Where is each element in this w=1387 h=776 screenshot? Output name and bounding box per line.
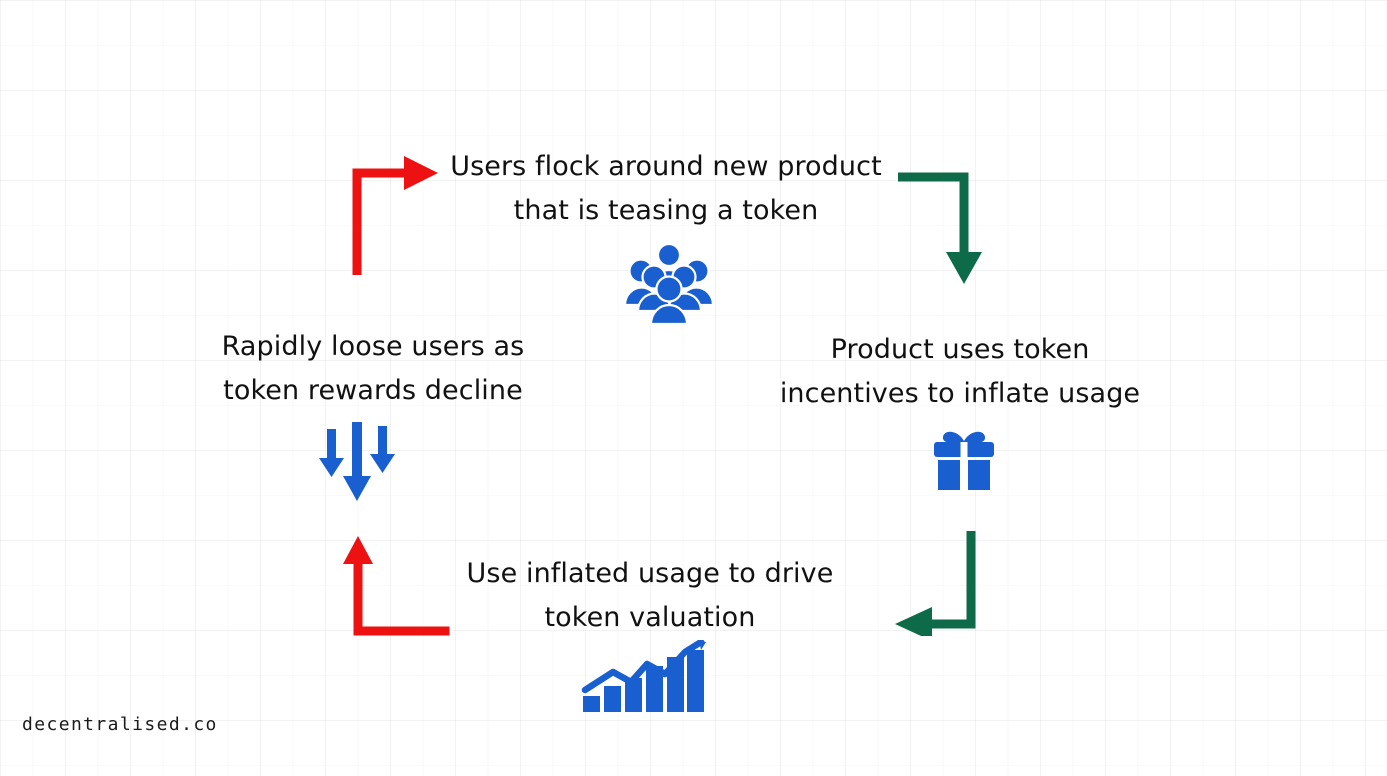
crowd-of-users-icon <box>623 243 715 329</box>
node-label-bottom-line-1: Use inflated usage to drive <box>455 552 845 596</box>
gift-box-icon <box>932 428 996 494</box>
node-label-right-line-1: Product uses token <box>760 328 1160 372</box>
diagram-canvas: Users flock around new product that is t… <box>0 0 1387 776</box>
node-label-bottom: Use inflated usage to drive token valuat… <box>455 552 845 639</box>
rising-bar-chart-icon <box>581 640 706 716</box>
node-label-top: Users flock around new product that is t… <box>438 145 894 232</box>
node-label-left: Rapidly loose users as token rewards dec… <box>208 325 538 412</box>
three-down-arrows-icon <box>314 420 400 509</box>
node-label-top-line-1: Users flock around new product <box>438 145 894 189</box>
node-label-left-line-2: token rewards decline <box>208 369 538 413</box>
connector-left-to-top <box>348 155 443 279</box>
connector-bottom-to-left <box>343 536 453 645</box>
watermark: decentralised.co <box>22 714 218 735</box>
node-label-right: Product uses token incentives to inflate… <box>760 328 1160 415</box>
node-label-right-line-2: incentives to inflate usage <box>760 372 1160 416</box>
connector-top-to-right <box>898 168 993 290</box>
connector-right-to-bottom <box>887 531 987 640</box>
node-label-left-line-1: Rapidly loose users as <box>208 325 538 369</box>
node-label-top-line-2: that is teasing a token <box>438 189 894 233</box>
node-label-bottom-line-2: token valuation <box>455 596 845 640</box>
